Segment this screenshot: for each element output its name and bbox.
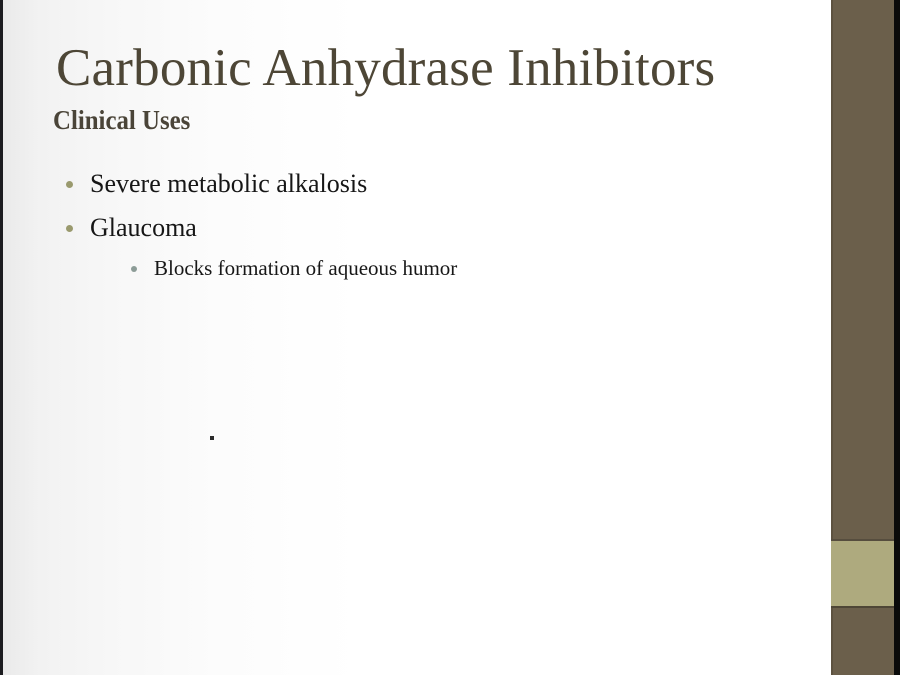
presentation-slide: Carbonic Anhydrase Inhibitors Clinical U… [0, 0, 900, 675]
slide-subtitle: Clinical Uses [53, 104, 190, 136]
stray-period-mark [210, 436, 214, 440]
slide-title: Carbonic Anhydrase Inhibitors [56, 38, 715, 98]
sub-bullet-dot-icon [131, 266, 137, 272]
side-band-divider-bottom [831, 606, 894, 608]
slide-right-edge-border [894, 0, 900, 675]
bullet-dot-icon [66, 181, 73, 188]
slide-bullet-list: Severe metabolic alkalosis Glaucoma Bloc… [56, 162, 796, 286]
sub-bullet-list: Blocks formation of aqueous humor [90, 250, 796, 286]
bullet-item-level2: Blocks formation of aqueous humor [90, 250, 796, 286]
bullet-label: Severe metabolic alkalosis [90, 169, 367, 198]
slide-background [0, 0, 900, 675]
bullet-item-level1: Glaucoma Blocks formation of aqueous hum… [56, 206, 796, 286]
slide-left-edge-border [0, 0, 3, 675]
side-band-accent-block [831, 541, 894, 606]
bullet-item-level1: Severe metabolic alkalosis [56, 162, 796, 206]
bullet-dot-icon [66, 225, 73, 232]
sub-bullet-label: Blocks formation of aqueous humor [154, 256, 457, 280]
bullet-label: Glaucoma [90, 213, 197, 242]
